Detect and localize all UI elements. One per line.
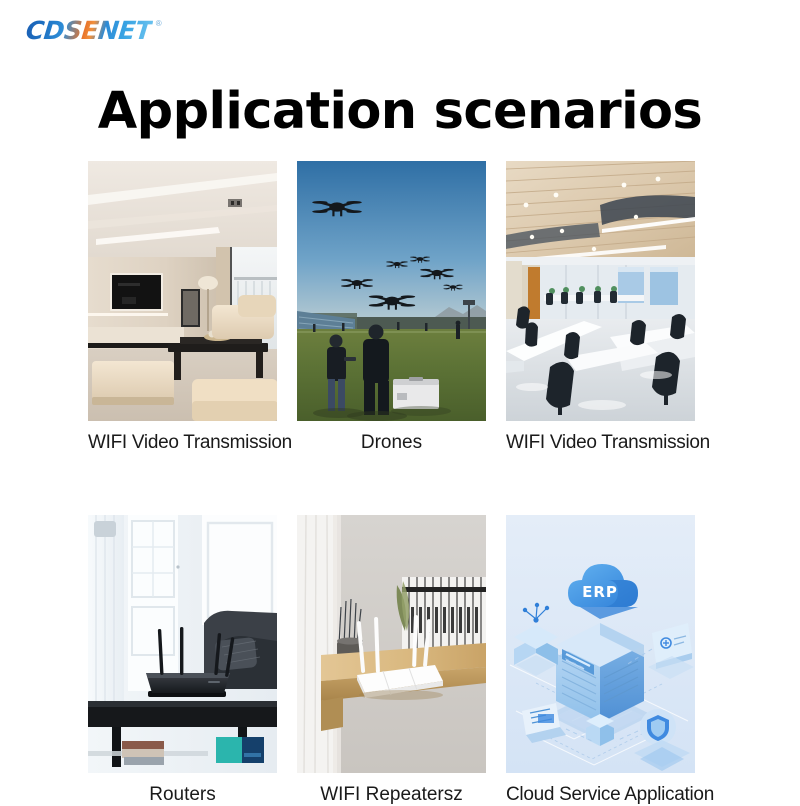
brand-logo: CDSENET ® — [26, 18, 162, 43]
erp-cloud-label: ERP — [582, 583, 618, 601]
brand-logo-text: CDSENET — [25, 18, 153, 43]
gallery-item[interactable]: ERP — [506, 515, 695, 806]
gallery-row: Routers — [88, 515, 695, 806]
living-room-tv-photo — [88, 161, 277, 421]
open-plan-office-photo — [506, 161, 695, 421]
registered-trademark-icon: ® — [156, 19, 162, 28]
gallery-item-caption: Drones — [297, 433, 486, 454]
scenario-gallery: WIFI Video Transmission — [88, 161, 695, 806]
gallery-item[interactable]: WIFI Video Transmission — [506, 161, 695, 454]
gallery-item-caption: Routers — [88, 785, 277, 806]
black-router-photo — [88, 515, 277, 773]
gallery-item[interactable]: Routers — [88, 515, 277, 806]
white-repeater-photo — [297, 515, 486, 773]
page-title: Application scenarios — [0, 82, 800, 141]
gallery-row: WIFI Video Transmission — [88, 161, 695, 454]
drone-swarm-photo — [297, 161, 486, 421]
gallery-item-caption: WIFI Video Transmission — [506, 433, 695, 454]
gallery-item[interactable]: Drones — [297, 161, 486, 454]
erp-cloud-isometric-illustration: ERP — [506, 515, 695, 773]
gallery-item[interactable]: WIFI Video Transmission — [88, 161, 277, 454]
gallery-item-caption: WIFI Video Transmission — [88, 433, 277, 454]
gallery-item-caption: Cloud Service Application — [506, 785, 695, 806]
gallery-item[interactable]: WIFI Repeatersz — [297, 515, 486, 806]
gallery-item-caption: WIFI Repeatersz — [297, 785, 486, 806]
